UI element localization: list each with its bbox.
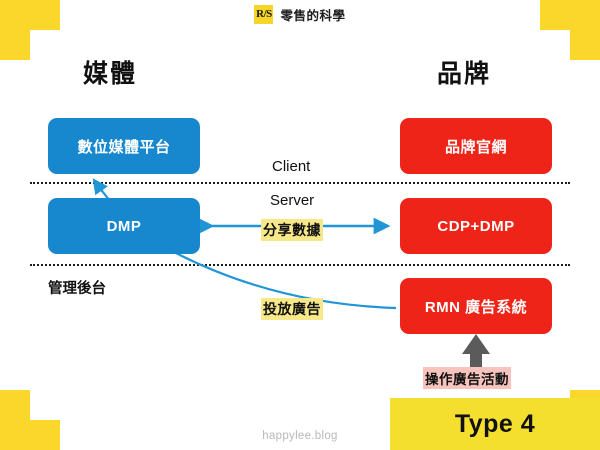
node-digital-media-platform[interactable]: 數位媒體平台: [48, 118, 200, 174]
type-banner-label: Type 4: [455, 410, 535, 439]
tier-label-client: Client: [272, 158, 310, 175]
annotation-share-data: 分享數據: [261, 219, 323, 241]
type-banner: Type 4: [390, 398, 600, 450]
node-media-dmp[interactable]: DMP: [48, 198, 200, 254]
node-rmn-ad-system[interactable]: RMN 廣告系統: [400, 278, 552, 334]
annotation-serve-ads: 投放廣告: [261, 298, 323, 320]
tier-divider-client-server: [30, 182, 570, 184]
annotation-operate-campaign: 操作廣告活動: [423, 367, 511, 389]
node-brand-cdp-dmp[interactable]: CDP+DMP: [400, 198, 552, 254]
diagram-canvas: R/S 零售的科學 媒體 品牌 數位媒體平台 DMP 品牌官網: [0, 0, 600, 450]
brand-header: R/S 零售的科學: [0, 2, 600, 26]
column-heading-media: 媒體: [83, 54, 137, 90]
tier-label-server: Server: [270, 192, 314, 209]
rs-monogram-icon: R/S: [254, 5, 273, 24]
column-heading-brand: 品牌: [437, 54, 491, 90]
node-brand-website[interactable]: 品牌官網: [400, 118, 552, 174]
tier-divider-server-admin: [30, 264, 570, 266]
frame-gap-right: [570, 60, 600, 390]
frame-gap-left: [0, 60, 30, 390]
tier-label-admin: 管理後台: [48, 277, 106, 298]
brand-name: 零售的科學: [280, 5, 345, 24]
